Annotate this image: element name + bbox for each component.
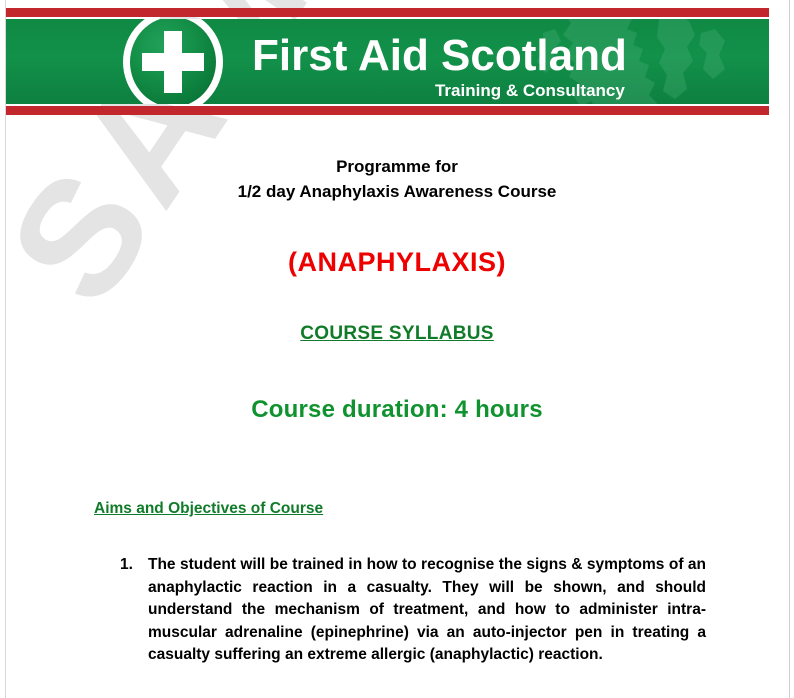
aims-heading-text: Aims and Objectives of Course bbox=[94, 500, 323, 517]
banner-stripe-bottom bbox=[6, 106, 769, 115]
programme-heading-line-2: 1/2 day Anaphylaxis Awareness Course bbox=[0, 179, 794, 204]
brand-tagline: Training & Consultancy bbox=[252, 81, 627, 101]
objectives-list: 1. The student will be trained in how to… bbox=[0, 554, 794, 667]
document-body: Programme for 1/2 day Anaphylaxis Awaren… bbox=[0, 130, 794, 667]
syllabus-heading-text: COURSE SYLLABUS bbox=[300, 323, 493, 344]
programme-heading-line-1: Programme for bbox=[0, 154, 794, 179]
list-item-number: 1. bbox=[120, 554, 133, 577]
aims-heading: Aims and Objectives of Course bbox=[0, 498, 794, 520]
banner-stripe-top bbox=[6, 8, 769, 17]
syllabus-heading: COURSE SYLLABUS bbox=[0, 322, 794, 347]
document-page: SAMPLE First Aid Scotland Training & Con… bbox=[0, 0, 794, 698]
first-aid-cross-icon bbox=[123, 19, 223, 104]
list-item-text: The student will be trained in how to re… bbox=[148, 556, 706, 663]
brand-block: First Aid Scotland Training & Consultanc… bbox=[252, 32, 627, 101]
course-duration: Course duration: 4 hours bbox=[0, 395, 794, 425]
course-title: (ANAPHYLAXIS) bbox=[0, 246, 794, 278]
programme-heading: Programme for 1/2 day Anaphylaxis Awaren… bbox=[0, 154, 794, 204]
logo-cross-horizontal bbox=[142, 53, 204, 71]
brand-name: First Aid Scotland bbox=[252, 32, 627, 80]
banner-body: First Aid Scotland Training & Consultanc… bbox=[6, 19, 769, 104]
list-item: 1. The student will be trained in how to… bbox=[0, 554, 794, 667]
header-banner: First Aid Scotland Training & Consultanc… bbox=[6, 8, 769, 115]
